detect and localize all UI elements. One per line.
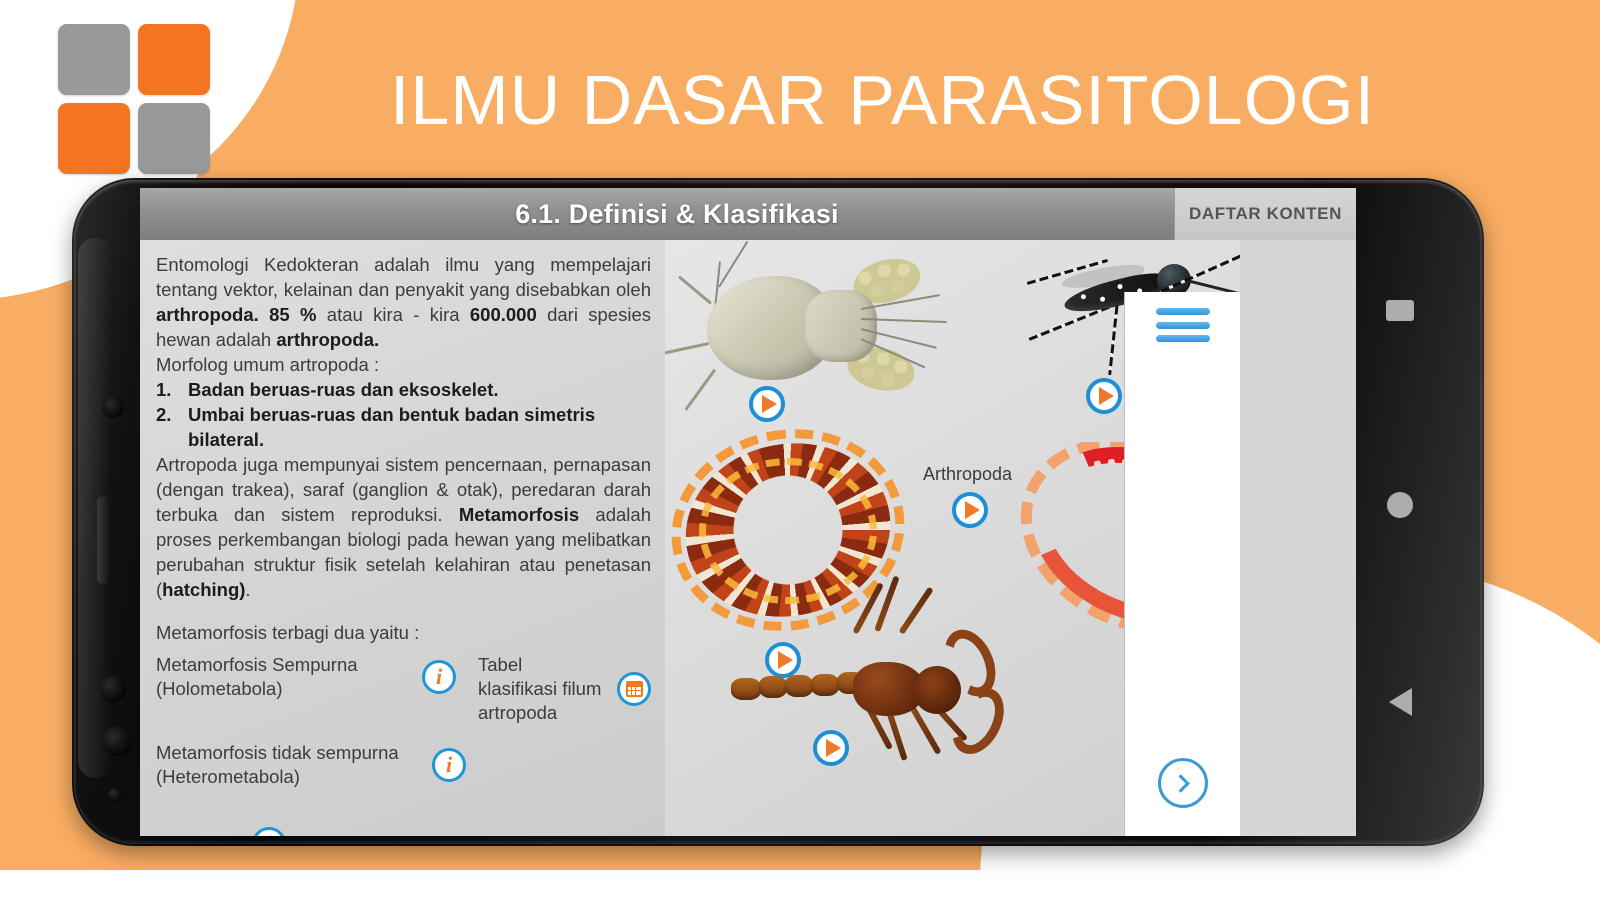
android-navigation-bar [1340,188,1460,836]
phone-sensor-2 [100,676,126,702]
daftar-konten-button[interactable]: DAFTAR KONTEN [1174,188,1356,240]
page-title: 6.1. Definisi & Klasifikasi [515,199,839,230]
info-icon[interactable]: i [252,827,286,836]
info-icon[interactable]: i [432,748,466,782]
phone-camera-sensor [102,396,124,418]
recents-square-icon[interactable] [1386,300,1414,321]
list-item-number: 2. [156,402,178,452]
meta-bold-1: Metamorfosis [459,504,579,525]
hamburger-menu-icon[interactable] [1156,308,1210,342]
list-item: 2. Umbai beruas-ruas dan bentuk badan si… [156,402,651,452]
banner-title: ILMU DASAR PARASITOLOGI [355,52,1410,148]
arthropoda-label: Arthropoda [923,464,1012,485]
content-area: Entomologi Kedokteran adalah ilmu yang m… [140,240,1240,836]
item-label: Tabel klasifikasi filum artropoda [478,653,603,725]
paragraph-intro: Entomologi Kedokteran adalah ilmu yang m… [156,252,651,352]
scorpion-illustration [725,590,1105,775]
morfologi-intro: Morfolog umum artropoda : [156,352,651,377]
item-metamorfosis-tidak-sempurna[interactable]: Metamorfosis tidak sempurna (Heterometab… [156,741,466,789]
phone-screen: 6.1. Definisi & Klasifikasi DAFTAR KONTE… [140,188,1356,836]
logo-tile-gray-1 [58,24,130,95]
phone-device-frame: 6.1. Definisi & Klasifikasi DAFTAR KONTE… [72,178,1484,846]
list-item-label: Badan beruas-ruas dan eksoskelet. [188,377,499,402]
item-klasifikasi[interactable]: Klasifikasi i [156,827,651,836]
intro-bold-2: 600.000 [470,304,537,325]
intro-bold-1: arthropoda. 85 % [156,304,316,325]
table-glyph [626,681,643,697]
meta-text-3: . [245,579,250,600]
logo-tile-orange-2 [58,103,130,174]
play-triangle-icon [1099,387,1114,405]
home-circle-icon[interactable] [1387,492,1413,518]
phone-side-button [97,496,109,584]
item-metamorfosis-sempurna[interactable]: Metamorfosis Sempurna (Holometabola) i [156,653,456,701]
meta-bold-2: hatching) [162,579,245,600]
item-tabel-klasifikasi[interactable]: Tabel klasifikasi filum artropoda [478,653,651,725]
list-item: 1. Badan beruas-ruas dan eksoskelet. [156,377,651,402]
morfologi-list: 1. Badan beruas-ruas dan eksoskelet. 2. … [156,377,651,452]
louse-illustration [685,250,935,415]
play-triangle-icon [762,395,777,413]
play-triangle-icon [965,501,980,519]
item-label: Metamorfosis Sempurna (Holometabola) [156,653,408,701]
white-strip-bottom [0,870,1600,900]
back-triangle-icon[interactable] [1389,688,1412,716]
app-logo [58,24,210,174]
logo-tile-gray-2 [138,103,210,174]
intro-bold-3: arthropoda. [276,329,379,350]
table-icon[interactable] [617,672,651,706]
play-button-mosquito[interactable] [1086,378,1122,414]
side-rail [1124,292,1240,836]
item-label: Klasifikasi [156,832,238,836]
list-item-label: Umbai beruas-ruas dan bentuk badan simet… [188,402,651,452]
spacer [156,602,651,620]
intro-text-2: atau kira - kira [316,304,469,325]
intro-text-1: Entomologi Kedokteran adalah ilmu yang m… [156,254,651,300]
play-button-arthropoda[interactable] [952,492,988,528]
app-bar: 6.1. Definisi & Klasifikasi DAFTAR KONTE… [140,188,1356,240]
chevron-right-icon [1171,774,1189,792]
list-item-number: 1. [156,377,178,402]
metamorfosis-row-1: Metamorfosis Sempurna (Holometabola) i T… [156,645,651,725]
logo-tile-orange-1 [138,24,210,95]
phone-sensor-3 [102,726,132,756]
play-triangle-icon [826,739,841,757]
play-button-scorpion[interactable] [813,730,849,766]
text-column: Entomologi Kedokteran adalah ilmu yang m… [140,240,665,836]
phone-sensor-4 [108,788,122,802]
info-icon[interactable]: i [422,660,456,694]
paragraph-metamorfosis: Artropoda juga mempunyai sistem pencerna… [156,452,651,602]
next-page-button[interactable] [1158,758,1208,808]
metamorfosis-intro: Metamorfosis terbagi dua yaitu : [156,620,651,645]
app-bar-title-area: 6.1. Definisi & Klasifikasi [140,188,1174,240]
item-label: Metamorfosis tidak sempurna (Heterometab… [156,741,418,789]
play-button-louse[interactable] [749,386,785,422]
